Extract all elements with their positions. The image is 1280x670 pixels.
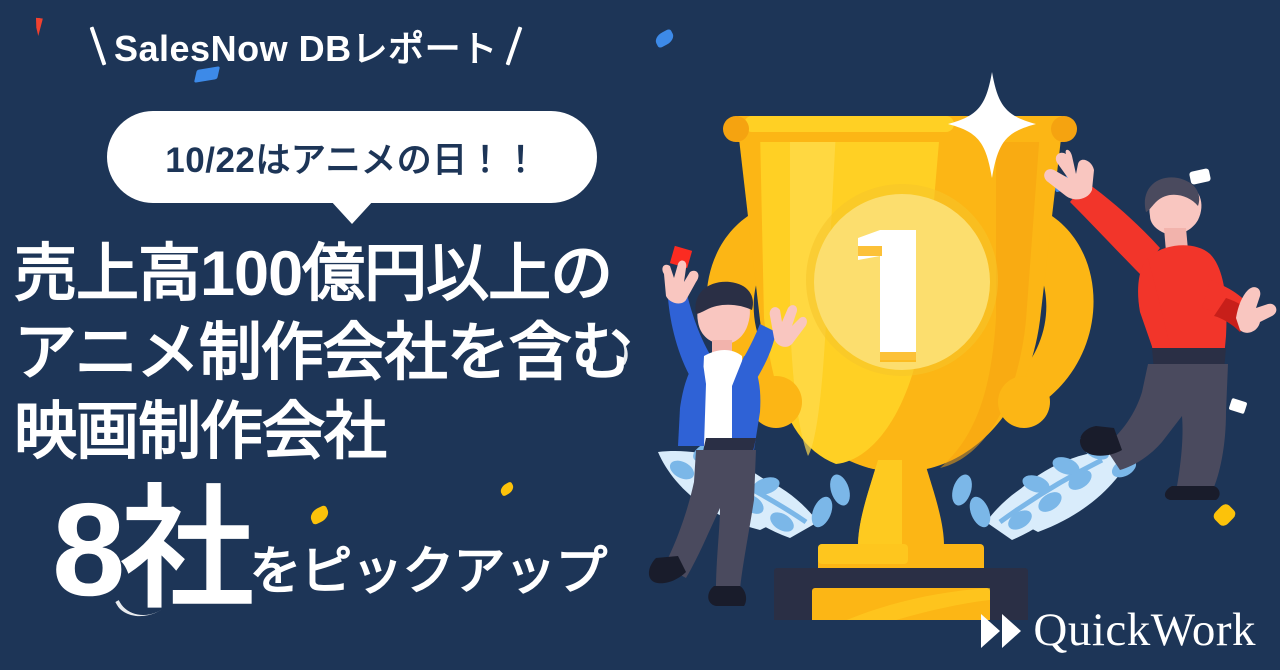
count-block: 8社 をピックアップ [52, 492, 606, 608]
speech-bubble-text: 10/22はアニメの日！！ [165, 132, 538, 183]
headline-block: 売上高100億円以上の アニメ制作会社を含む 映画制作会社 [14, 243, 633, 480]
person-right-illustration [1030, 140, 1280, 500]
confetti-red-top [34, 18, 43, 37]
person-left-illustration [620, 260, 850, 610]
eyebrow-label: SalesNow DBレポート [114, 20, 498, 72]
logo-text: QuickWork [1033, 607, 1256, 654]
report-banner: SalesNow DBレポート 10/22はアニメの日！！ 売上高100億円以上… [0, 0, 1280, 670]
eyebrow-slash-left [90, 26, 107, 65]
confetti-yellow-1 [1211, 502, 1237, 528]
trophy-stem [858, 460, 944, 546]
double-chevron-icon [981, 614, 1021, 648]
speech-bubble: 10/22はアニメの日！！ [107, 111, 597, 203]
company-count: 8社 [52, 492, 249, 608]
headline-line-1: 売上高100億円以上の [14, 243, 633, 306]
headline-line-3: 映画制作会社 [14, 401, 633, 464]
eyebrow-slash-right [505, 26, 522, 65]
confetti-blue-2 [653, 28, 676, 48]
quickwork-logo: QuickWork [981, 607, 1256, 654]
count-suffix: をピックアップ [249, 546, 606, 608]
headline-line-2: アニメ制作会社を含む [14, 322, 633, 385]
speech-bubble-tail [330, 200, 374, 224]
eyebrow-header: SalesNow DBレポート [96, 20, 516, 72]
